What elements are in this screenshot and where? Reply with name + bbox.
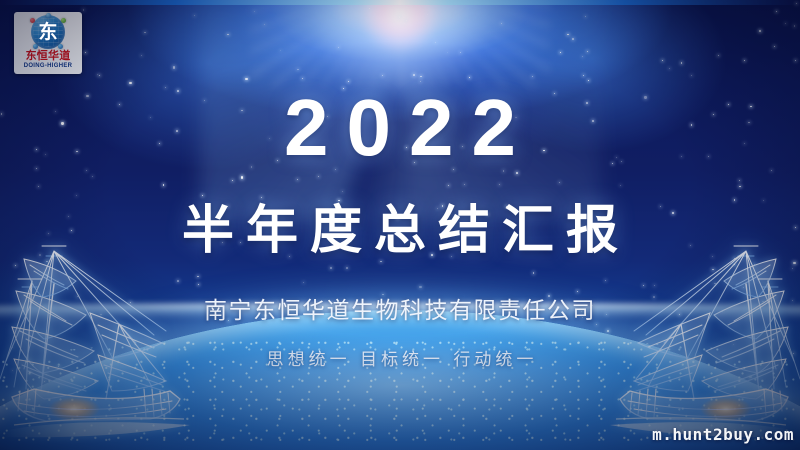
watermark: m.hunt2buy.com (652, 425, 794, 444)
company-logo[interactable]: 东 东恒华道 DOING-HIGHER (14, 12, 82, 74)
logo-dot-blue-right (58, 44, 63, 49)
logo-dot-green (61, 18, 66, 23)
logo-dot-red (30, 18, 35, 23)
top-light-strip (0, 0, 800, 5)
sailing-ship-right-icon (596, 239, 800, 444)
page-title: 半年度总结汇报 (0, 203, 800, 259)
logo-dot-top (46, 13, 51, 18)
presentation-cover-slide: 东 东恒华道 DOING-HIGHER (0, 0, 800, 450)
globe-icon: 东 (31, 15, 65, 49)
logo-dot-blue-left (33, 44, 38, 49)
year-title: 2022 (0, 88, 800, 168)
sailing-ship-left-icon (0, 239, 204, 444)
logo-name-en: DOING-HIGHER (24, 63, 73, 69)
slogan-text: 思想统一 目标统一 行动统一 (0, 350, 800, 370)
logo-globe-character: 东 (38, 23, 57, 42)
company-name: 南宁东恒华道生物科技有限责任公司 (0, 298, 800, 326)
logo-name-cn: 东恒华道 (26, 50, 71, 62)
